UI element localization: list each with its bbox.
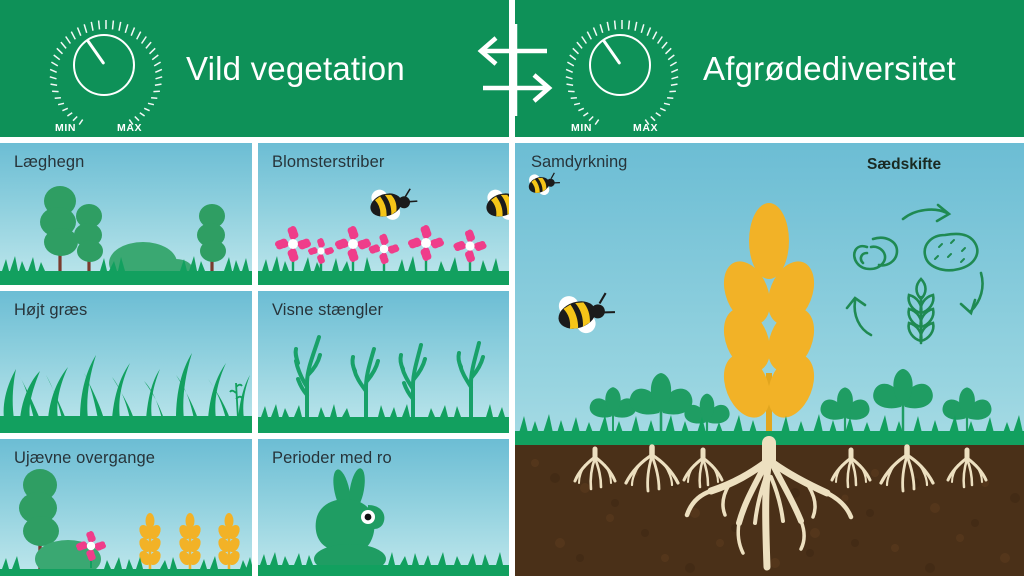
scene-hedgerow: [0, 143, 252, 285]
wheat-stalk-group: [137, 513, 242, 571]
header-left: MIN MAX Vild vegetation: [0, 0, 509, 137]
panel-laeghegn[interactable]: Læghegn: [0, 143, 252, 285]
rabbit-icon: [314, 467, 386, 574]
dial-max-label-right: MAX: [633, 122, 658, 134]
exchange-arrows: [465, 24, 565, 116]
dial-knob-icon-left: MIN MAX: [47, 14, 165, 132]
rotation-arrow-left: [847, 298, 871, 335]
scene-flowerstrip: [258, 143, 509, 285]
scene-witheredstalks: [258, 291, 509, 433]
wheat-ear-icon: [715, 203, 823, 445]
grain-icon: [909, 279, 934, 343]
bee-icon: [482, 181, 509, 225]
rotation-arrow-right: [961, 273, 983, 313]
dial-ring-right: [589, 34, 651, 96]
dial-min-label-right: MIN: [571, 122, 592, 134]
scene-intercropping: [515, 143, 1024, 576]
panel-visne-staengler[interactable]: Visne stængler: [258, 291, 509, 433]
bee-icon: [366, 179, 421, 225]
infographic-root: MIN MAX Vild vegetation: [0, 0, 1024, 576]
potato-icon: [925, 234, 978, 270]
bee-icon: [525, 167, 562, 199]
dial-knob-icon-right: MIN MAX: [563, 14, 681, 132]
header: MIN MAX Vild vegetation: [0, 0, 1024, 137]
dial-min-label-left: MIN: [55, 122, 76, 134]
crop-rotation-diagram: [847, 205, 983, 343]
panel-blomsterstriber[interactable]: Blomsterstriber: [258, 143, 509, 285]
scene-transitions: [0, 439, 252, 576]
header-right-title: Afgrødediversitet: [703, 0, 956, 137]
panel-ujaevne-overgange[interactable]: Ujævne overgange: [0, 439, 252, 576]
header-left-title: Vild vegetation: [186, 0, 405, 137]
panel-samdyrkning[interactable]: Samdyrkning Sædskifte: [515, 143, 1024, 576]
panel-hojt-graes[interactable]: Højt græs: [0, 291, 252, 433]
dial-max-label-left: MAX: [117, 122, 142, 134]
scene-rabbit: [258, 439, 509, 576]
dial-ring-left: [73, 34, 135, 96]
header-right: MIN MAX Afgrødediversitet: [515, 0, 1024, 137]
bean-icon: [854, 238, 897, 269]
panel-perioder-med-ro[interactable]: Perioder med ro: [258, 439, 509, 576]
scene-tallgrass: [0, 291, 252, 433]
bee-icon: [552, 284, 618, 341]
rotation-arrow-top: [903, 205, 949, 221]
